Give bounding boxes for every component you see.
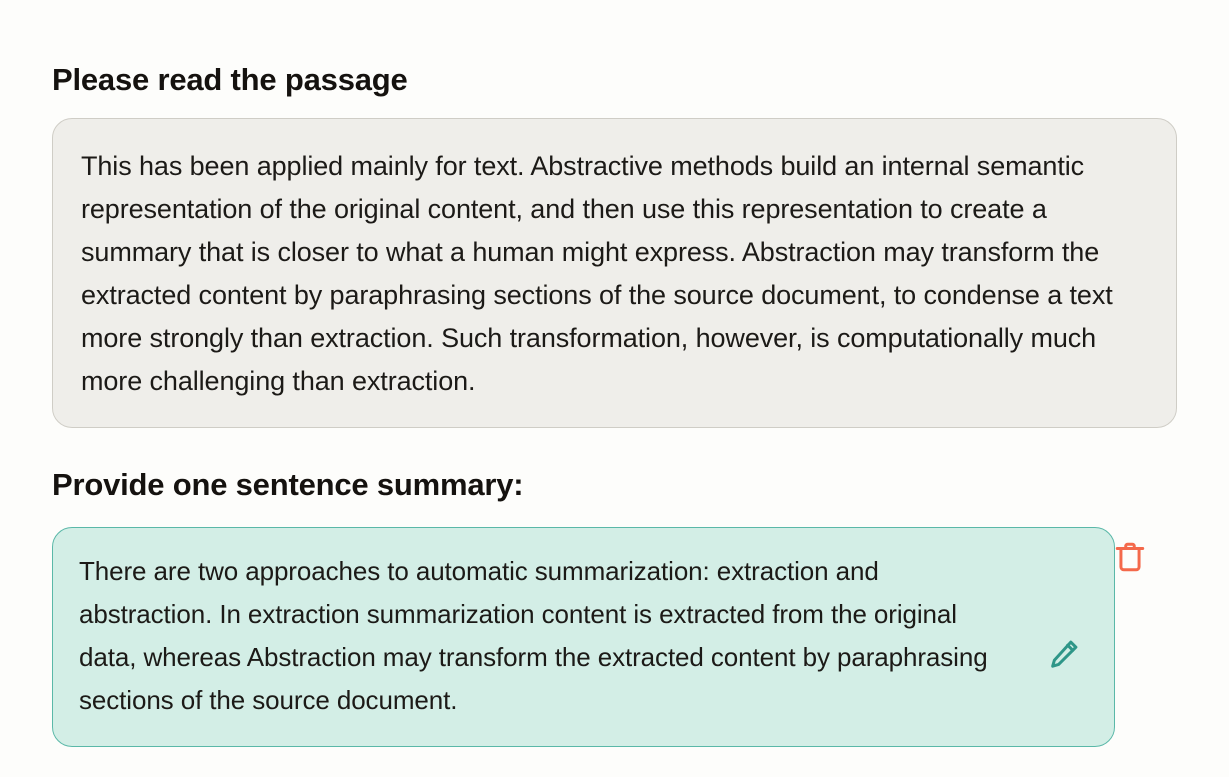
summary-row: There are two approaches to automatic su… xyxy=(52,527,1177,747)
delete-summary-button[interactable] xyxy=(1107,535,1153,581)
summary-prompt-label: Provide one sentence summary: xyxy=(52,468,1177,502)
page-title: Please read the passage xyxy=(52,21,1177,97)
passage-card: This has been applied mainly for text. A… xyxy=(52,118,1177,428)
pencil-icon xyxy=(1047,637,1081,674)
summary-text-value: There are two approaches to automatic su… xyxy=(79,550,1014,722)
task-page: Please read the passage This has been ap… xyxy=(0,21,1229,777)
summary-input[interactable]: There are two approaches to automatic su… xyxy=(52,527,1115,747)
trash-icon xyxy=(1113,540,1147,577)
edit-summary-button[interactable] xyxy=(1042,633,1086,677)
passage-text: This has been applied mainly for text. A… xyxy=(81,145,1148,403)
